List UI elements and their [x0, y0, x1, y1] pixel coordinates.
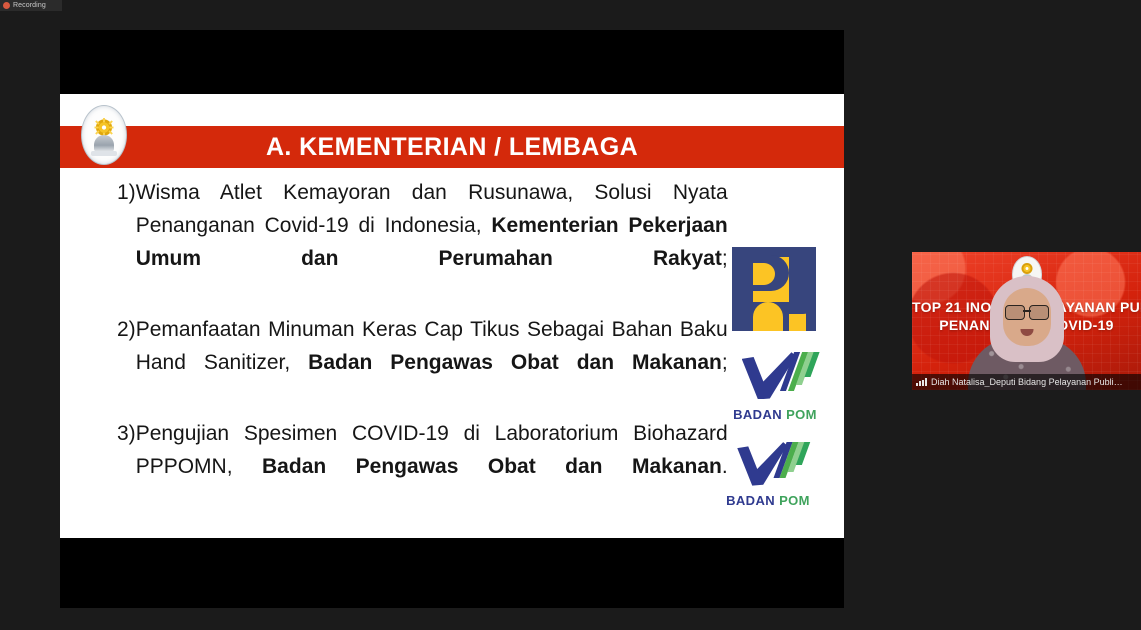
- slide-title: A. KEMENTERIAN / LEMBAGA: [266, 133, 638, 162]
- signal-bars-icon: [916, 378, 927, 386]
- list-item-text: Wisma Atlet Kemayoran dan Rusunawa, Solu…: [136, 176, 728, 308]
- pupr-logo-icon: [732, 247, 816, 331]
- kemenpanrb-emblem-icon: [81, 105, 127, 165]
- badan-pom-word-pom: POM: [779, 493, 810, 508]
- badan-pom-wordmark: BADAN POM: [723, 407, 827, 422]
- badan-pom-word-pom: POM: [786, 407, 817, 422]
- list-item-marker: 3): [117, 417, 136, 450]
- badan-pom-swoosh-icon: [720, 440, 816, 492]
- list-item-marker: 2): [117, 313, 136, 346]
- recording-dot-icon: [3, 2, 10, 9]
- recording-indicator: Recording: [0, 0, 62, 11]
- bell-icon: [94, 135, 114, 152]
- recording-label: Recording: [13, 2, 46, 9]
- badan-pom-logo-icon: BADAN POM: [723, 350, 827, 428]
- glasses-icon: [1005, 305, 1049, 318]
- list-item-text-bold: Badan Pengawas Obat dan Makanan: [308, 351, 722, 374]
- list-item-text: Pemanfaatan Minuman Keras Cap Tikus Seba…: [136, 313, 728, 412]
- badan-pom-swoosh-icon: [723, 350, 827, 406]
- badan-pom-word-badan: BADAN: [733, 407, 782, 422]
- participant-video-tile[interactable]: PENGH TOP 21 INOVASI PELAYANAN PUBLIK PE…: [912, 252, 1141, 390]
- list-item-text-tail: ;: [722, 247, 728, 270]
- badan-pom-word-badan: BADAN: [726, 493, 775, 508]
- list-item: 1) Wisma Atlet Kemayoran dan Rusunawa, S…: [60, 176, 844, 308]
- presentation-slide: A. KEMENTERIAN / LEMBAGA: [60, 94, 844, 538]
- list-item-marker: 1): [117, 176, 136, 209]
- participant-name-bar: Diah Natalisa_Deputi Bidang Pelayanan Pu…: [912, 374, 1141, 390]
- participant-figure: [967, 270, 1087, 390]
- list-item-text: Pengujian Spesimen COVID-19 di Laborator…: [136, 417, 728, 516]
- shared-screen-stage[interactable]: A. KEMENTERIAN / LEMBAGA: [60, 30, 844, 608]
- bell-base: [91, 151, 117, 156]
- slide-title-banner: A. KEMENTERIAN / LEMBAGA: [60, 126, 844, 168]
- participant-name-label: Diah Natalisa_Deputi Bidang Pelayanan Pu…: [931, 377, 1127, 387]
- badan-pom-wordmark: BADAN POM: [720, 493, 816, 508]
- list-item-text-bold: Badan Pengawas Obat dan Makanan: [262, 455, 722, 478]
- badan-pom-logo-icon: BADAN POM: [720, 440, 816, 512]
